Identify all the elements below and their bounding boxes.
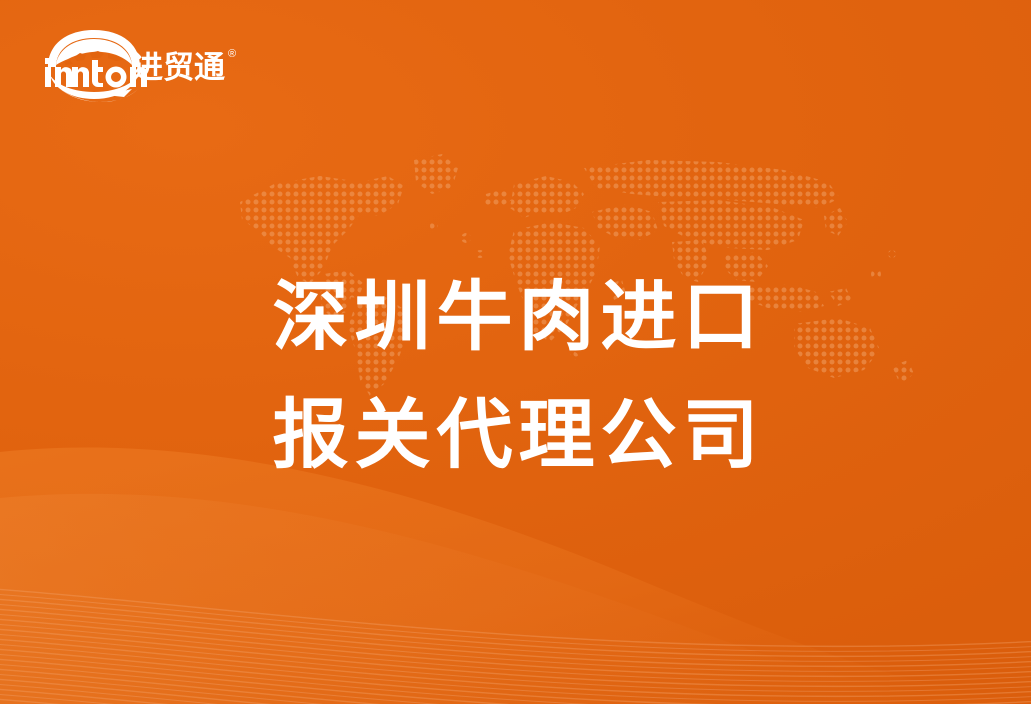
promo-banner: 进贸通 ® 深圳牛肉进口 报关代理公司 bbox=[0, 0, 1031, 704]
brand-logo[interactable]: 进贸通 ® bbox=[40, 27, 220, 105]
headline: 深圳牛肉进口 报关代理公司 bbox=[0, 258, 1031, 494]
brand-chinese-name: 进贸通 bbox=[132, 53, 225, 84]
headline-line-1: 深圳牛肉进口 bbox=[0, 258, 1031, 376]
registered-trademark-symbol: ® bbox=[228, 49, 236, 60]
headline-line-2: 报关代理公司 bbox=[0, 376, 1031, 494]
